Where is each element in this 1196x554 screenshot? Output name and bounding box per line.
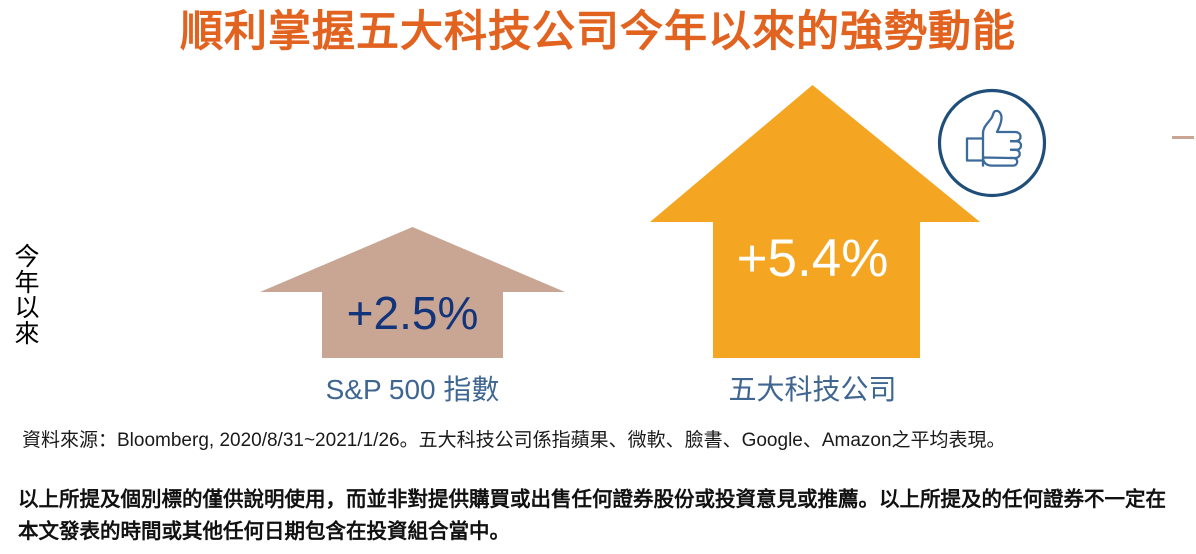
arrow-bigtech-caption: 五大科技公司: [645, 368, 980, 408]
page-title: 順利掌握五大科技公司今年以來的強勢動能: [0, 8, 1196, 57]
arrow-bigtech-shape: [645, 82, 980, 358]
edge-marker: [1172, 136, 1194, 139]
thumbs-up-icon: [936, 87, 1048, 199]
arrow-sp500-shape: [260, 222, 565, 358]
vertical-axis-label: 今年以來: [10, 245, 44, 347]
disclaimer-text: 以上所提及個別標的僅供說明使用，而並非對提供購買或出售任何證券股份或投資意見或推…: [18, 484, 1186, 548]
thumbs-up-badge: [936, 87, 1048, 199]
slide-canvas: 順利掌握五大科技公司今年以來的強勢動能 今年以來 +2.5% S&P 500 指…: [0, 0, 1196, 554]
arrow-bigtech: [645, 82, 980, 358]
arrow-sp500-caption: S&P 500 指數: [260, 368, 565, 408]
source-note: 資料來源：Bloomberg, 2020/8/31~2021/1/26。五大科技…: [22, 428, 1182, 454]
arrow-sp500: [260, 222, 565, 358]
